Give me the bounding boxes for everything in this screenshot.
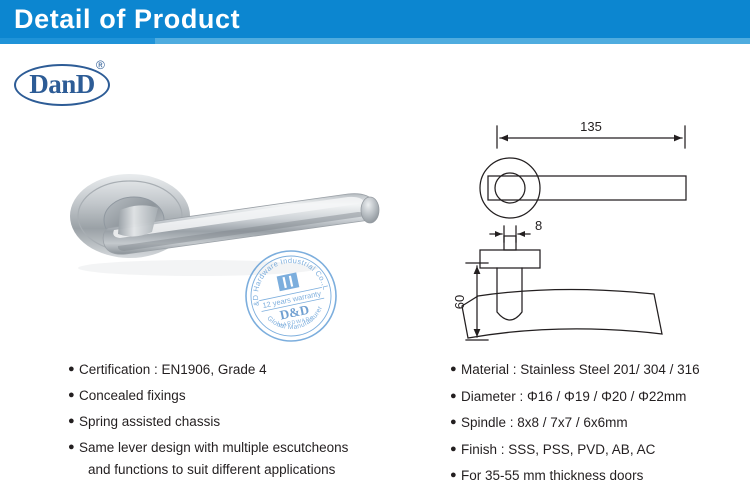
list-item-label: Concealed fixings — [79, 388, 408, 403]
dimension-label-length: 135 — [580, 119, 602, 134]
list-item-label-line1: Same lever design with multiple escutche… — [79, 440, 348, 455]
list-item-label: Certification : EN1906, Grade 4 — [79, 362, 408, 377]
bullet-icon: ● — [68, 414, 79, 429]
dimension-label-spindle: 8 — [535, 218, 542, 233]
page-title: Detail of Product — [14, 4, 240, 35]
bullet-icon: ● — [450, 389, 461, 404]
dimension-label-height: 60 — [452, 295, 467, 309]
list-item-label: Diameter : Φ16 / Φ19 / Φ20 / Φ22mm — [461, 389, 745, 404]
bullet-icon: ● — [68, 440, 79, 455]
technical-drawings: 135 8 60 — [440, 118, 750, 358]
list-item: ● Spring assisted chassis — [68, 414, 408, 429]
list-item-label: Spindle : 8x8 / 7x7 / 6x6mm — [461, 415, 745, 430]
banner-underline-highlight — [155, 38, 750, 44]
list-item: ● Diameter : Φ16 / Φ19 / Φ20 / Φ22mm — [450, 389, 745, 404]
list-item: ● Concealed fixings — [68, 388, 408, 403]
bullet-icon: ● — [450, 468, 461, 483]
registered-trademark-icon: ® — [96, 58, 105, 72]
list-item: ● Certification : EN1906, Grade 4 — [68, 362, 408, 377]
bullet-icon: ● — [68, 362, 79, 377]
list-item-label: Spring assisted chassis — [79, 414, 408, 429]
bullet-icon: ● — [450, 362, 461, 377]
list-item: ● Spindle : 8x8 / 7x7 / 6x6mm — [450, 415, 745, 430]
list-item: ● For 35-55 mm thickness doors — [450, 468, 745, 483]
list-item-label: Finish : SSS, PSS, PVD, AB, AC — [461, 442, 745, 457]
list-item: ● Finish : SSS, PSS, PVD, AB, AC — [450, 442, 745, 457]
list-item: ● Material : Stainless Steel 201/ 304 / … — [450, 362, 745, 377]
list-item-label: Same lever design with multiple escutche… — [79, 440, 408, 477]
watermark-stamp: D&D Hardware Industrial Co.,Ltd Global M… — [243, 248, 339, 344]
product-features-list: ● Certification : EN1906, Grade 4 ● Conc… — [68, 362, 408, 488]
list-item-label: For 35-55 mm thickness doors — [461, 468, 745, 483]
brand-logo: DanD ® — [14, 56, 134, 110]
list-item-label: Material : Stainless Steel 201/ 304 / 31… — [461, 362, 745, 377]
bullet-icon: ● — [450, 415, 461, 430]
watermark-illustration: D&D Hardware Industrial Co.,Ltd Global M… — [243, 248, 339, 344]
product-specifications-list: ● Material : Stainless Steel 201/ 304 / … — [450, 362, 745, 495]
technical-drawing-illustration: 135 8 60 — [440, 118, 750, 358]
bullet-icon: ● — [450, 442, 461, 457]
list-item: ● Same lever design with multiple escutc… — [68, 440, 408, 477]
bullet-icon: ● — [68, 388, 79, 403]
list-item-label-line2: and functions to suit different applicat… — [79, 462, 408, 477]
